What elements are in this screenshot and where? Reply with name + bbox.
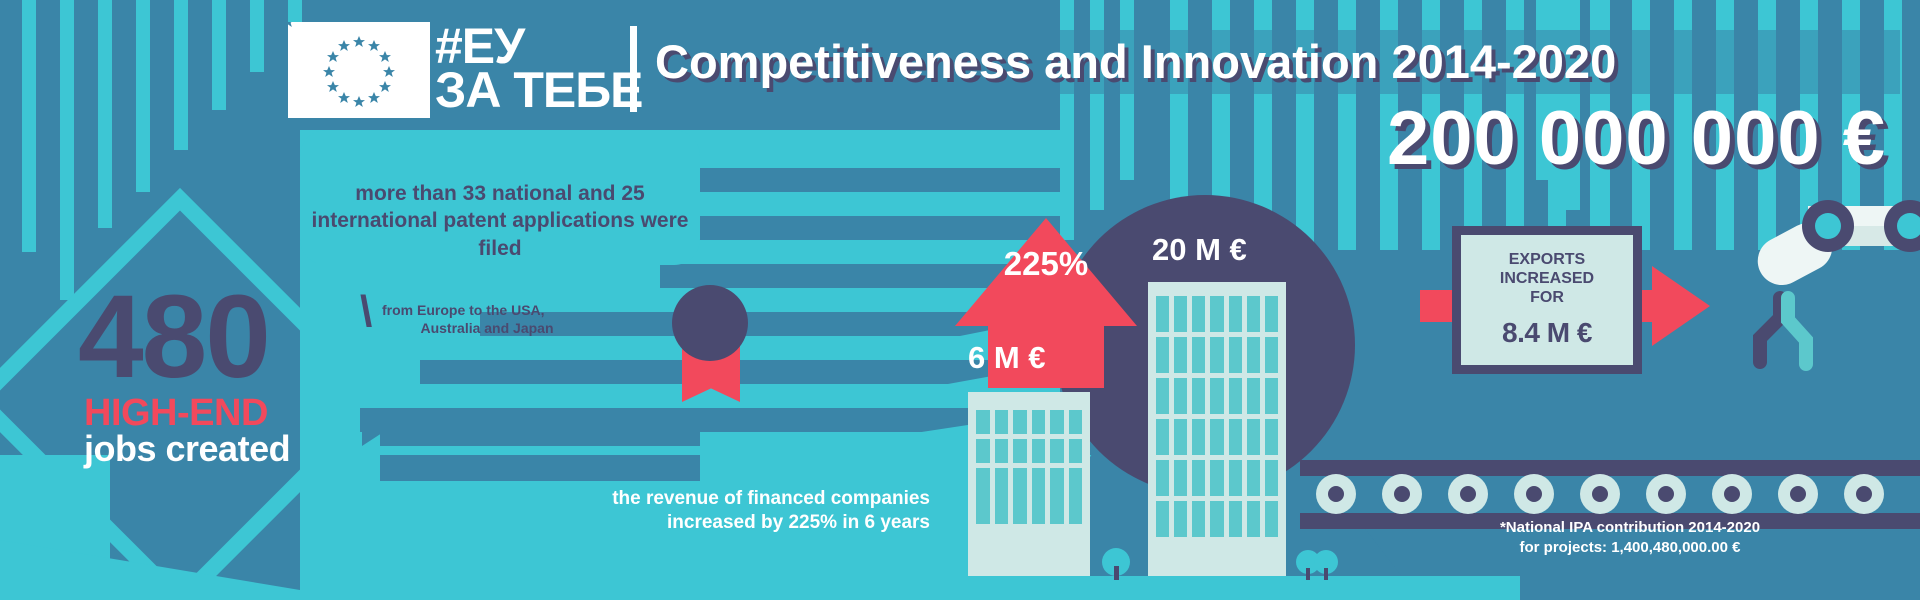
slash-marker-icon: \: [360, 290, 372, 334]
window: [1174, 419, 1187, 455]
window: [1265, 337, 1278, 373]
eu-hashtag-slogan: #ЕУ ЗА ТЕБЕ: [435, 24, 643, 112]
window: [1192, 296, 1205, 332]
window: [1247, 378, 1260, 414]
bg-vbar: [136, 0, 150, 192]
exports-box: EXPORTS INCREASED FOR 8.4 M €: [1452, 226, 1642, 374]
exports-box-inner: EXPORTS INCREASED FOR 8.4 M €: [1461, 235, 1633, 365]
conveyor-top-band: [1300, 460, 1920, 476]
window: [1265, 419, 1278, 455]
bg-vbar: [174, 0, 188, 150]
medal-icon: [672, 285, 748, 361]
window: [995, 410, 1009, 434]
conveyor-roller: [1580, 474, 1620, 514]
window: [1156, 419, 1169, 455]
window: [1229, 337, 1242, 373]
window: [1156, 296, 1169, 332]
robot-arm-icon: [1750, 190, 1920, 380]
growth-percent-label: 225%: [955, 245, 1137, 283]
window: [1210, 337, 1223, 373]
building-large-label: 20 M €: [1152, 232, 1247, 268]
banner-stripe: [380, 455, 700, 481]
window: [1192, 337, 1205, 373]
building-large: [1148, 282, 1286, 576]
conveyor-roller: [1844, 474, 1884, 514]
bg-vbar: [212, 0, 226, 110]
window: [1192, 419, 1205, 455]
window: [1013, 468, 1027, 524]
window: [1247, 501, 1260, 537]
window: [1156, 378, 1169, 414]
window: [1032, 410, 1046, 434]
window: [1050, 410, 1064, 434]
window: [995, 468, 1009, 524]
window: [1265, 296, 1278, 332]
conveyor-roller: [1382, 474, 1422, 514]
window: [1174, 378, 1187, 414]
jobs-label: jobs created: [84, 428, 290, 470]
arrow-head: [1652, 266, 1710, 346]
ground-strip: [960, 576, 1520, 600]
window: [1174, 337, 1187, 373]
window: [1229, 460, 1242, 496]
window: [1013, 410, 1027, 434]
window: [976, 468, 990, 524]
bg-vbar: [250, 0, 264, 72]
window: [1069, 468, 1083, 524]
exports-value: 8.4 M €: [1502, 317, 1592, 349]
window: [1265, 460, 1278, 496]
window: [1229, 419, 1242, 455]
window: [1210, 378, 1223, 414]
exports-title-line-2: INCREASED: [1500, 270, 1594, 289]
bg-vbar: [98, 0, 112, 228]
hashtag-line-2: ЗА ТЕБЕ: [435, 68, 643, 112]
window: [995, 439, 1009, 463]
total-amount: 200 000 000 €: [1387, 95, 1886, 182]
window: [1210, 419, 1223, 455]
tree-trunk: [1306, 568, 1310, 580]
conveyor-roller: [1514, 474, 1554, 514]
window: [1265, 501, 1278, 537]
window: [1210, 296, 1223, 332]
window: [1050, 468, 1064, 524]
window: [1174, 460, 1187, 496]
window: [1069, 410, 1083, 434]
jobs-number: 480: [78, 278, 269, 396]
window: [1032, 468, 1046, 524]
window: [1210, 460, 1223, 496]
window: [1229, 378, 1242, 414]
window: [1192, 378, 1205, 414]
conveyor-roller: [1316, 474, 1356, 514]
building-small-label: 6 M €: [968, 340, 1046, 376]
patents-bubble-text: more than 33 national and 25 internation…: [310, 180, 690, 262]
bg-hstripe: [660, 168, 1080, 192]
banner-notch: [362, 420, 382, 446]
revenue-caption: the revenue of financed companies increa…: [600, 487, 930, 535]
window: [1192, 460, 1205, 496]
patents-note-line-1: from Europe to the USA,: [382, 302, 592, 320]
patents-bubble-tail: [318, 255, 364, 311]
window: [1156, 501, 1169, 537]
window: [1156, 337, 1169, 373]
window-grid: [1156, 296, 1278, 537]
window: [1174, 296, 1187, 332]
page-title: Competitiveness and Innovation 2014-2020: [655, 34, 1616, 89]
window: [1265, 378, 1278, 414]
window: [1069, 439, 1083, 463]
window: [976, 410, 990, 434]
tree-trunk: [1114, 566, 1119, 580]
window: [976, 439, 990, 463]
exports-title: EXPORTS INCREASED FOR: [1500, 251, 1594, 308]
eu-flag-icon: [288, 22, 430, 118]
window: [1192, 501, 1205, 537]
window: [1247, 296, 1260, 332]
window: [1032, 439, 1046, 463]
window: [1247, 337, 1260, 373]
tree-trunk: [1324, 568, 1328, 580]
window: [1013, 439, 1027, 463]
bg-vbar: [60, 0, 74, 300]
footnote-line-2: for projects: 1,400,480,000.00 €: [1400, 538, 1860, 558]
window: [1229, 296, 1242, 332]
conveyor-roller: [1448, 474, 1488, 514]
conveyor-roller: [1712, 474, 1752, 514]
exports-title-line-1: EXPORTS: [1500, 251, 1594, 270]
building-small: [968, 392, 1090, 576]
footnote: *National IPA contribution 2014-2020 for…: [1400, 518, 1860, 559]
window: [1156, 460, 1169, 496]
exports-title-line-3: FOR: [1500, 289, 1594, 308]
conveyor-roller: [1778, 474, 1818, 514]
window: [1229, 501, 1242, 537]
footnote-line-1: *National IPA contribution 2014-2020: [1400, 518, 1860, 538]
window: [1247, 460, 1260, 496]
conveyor-roller: [1646, 474, 1686, 514]
window: [1174, 501, 1187, 537]
window: [1247, 419, 1260, 455]
bg-vbar: [22, 0, 36, 252]
window: [1210, 501, 1223, 537]
banner-stripe: [380, 420, 700, 446]
infographic-canvas: #ЕУ ЗА ТЕБЕ Competitiveness and Innovati…: [0, 0, 1920, 600]
patents-note-line-2: Australia and Japan: [382, 320, 592, 338]
patents-note: from Europe to the USA, Australia and Ja…: [382, 302, 592, 337]
header-divider: [630, 26, 637, 112]
window-grid: [976, 410, 1082, 524]
window: [1050, 439, 1064, 463]
